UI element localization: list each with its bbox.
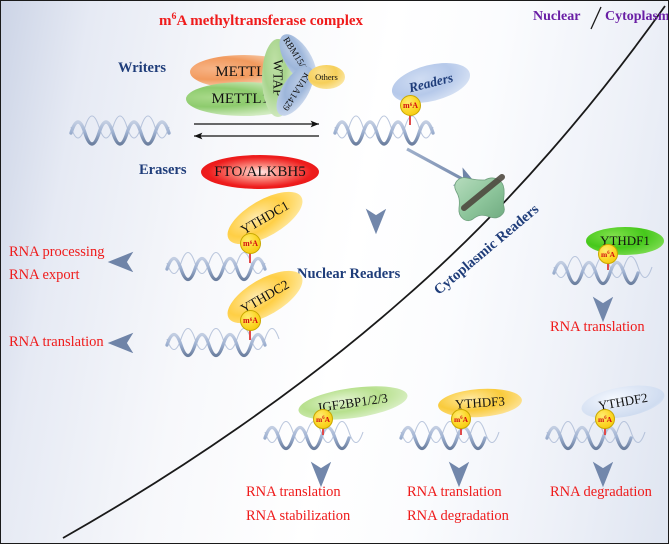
rna-strand-ythdf2 (547, 422, 645, 449)
figure-title: m6A methyltransferase complex (159, 11, 363, 30)
compartment-divider-tick (591, 7, 601, 29)
outcome-rna-translation-ythdf3: RNA translation (407, 484, 502, 501)
outcome-rna-translation-ythdf1: RNA translation (550, 319, 645, 336)
m6a-mark-ythdc1: m6A (240, 233, 261, 254)
outcome-rna-stabilization-igf2bp: RNA stabilization (246, 508, 350, 525)
outcome-rna-translation-igf2bp: RNA translation (246, 484, 341, 501)
outcome-rna-processing: RNA processing (9, 244, 104, 261)
cytoplasm-compartment-label: Cytoplasm (605, 9, 669, 25)
nuclear-readers-label: Nuclear Readers (297, 266, 400, 283)
outcome-rna-degradation-ythdf2: RNA degradation (550, 484, 652, 501)
outcome-rna-degradation-ythdf3: RNA degradation (407, 508, 509, 525)
outcome-rna-export: RNA export (9, 267, 79, 284)
protein-others[interactable]: Others (308, 65, 345, 89)
m6a-mark-top-rna: m6A (400, 95, 421, 116)
writers-label: Writers (118, 60, 166, 77)
protein-fto-alkbh5[interactable]: FTO/ALKBH5 (201, 155, 319, 189)
m6a-mark-ythdf1: m6A (598, 244, 618, 264)
protein-others-label: Others (315, 72, 338, 82)
erasers-label: Erasers (139, 162, 187, 179)
rna-strand-unmethylated (71, 116, 169, 144)
m6a-mark-ythdf3: m6A (451, 409, 471, 429)
nuclear-pore-icon (455, 177, 504, 221)
m6a-mark-ythdc2: m6A (240, 310, 261, 331)
outcome-rna-translation-ythdc2: RNA translation (9, 334, 104, 351)
rna-strand-methylated (335, 116, 433, 144)
m6a-mark-igf2bp: m6A (313, 409, 333, 429)
protein-fto-alkbh5-label: FTO/ALKBH5 (214, 164, 305, 181)
rna-strand-ythdf3 (401, 422, 499, 449)
figure-canvas: m6A methyltransferase complex Nuclear Cy… (0, 0, 669, 544)
nuclear-compartment-label: Nuclear (533, 9, 580, 25)
rna-strand-igf2bp (265, 422, 363, 449)
rna-strand-ythdc2 (167, 329, 279, 356)
m6a-mark-ythdf2: m6A (595, 409, 615, 429)
readers-badge-label: Readers (407, 70, 455, 96)
